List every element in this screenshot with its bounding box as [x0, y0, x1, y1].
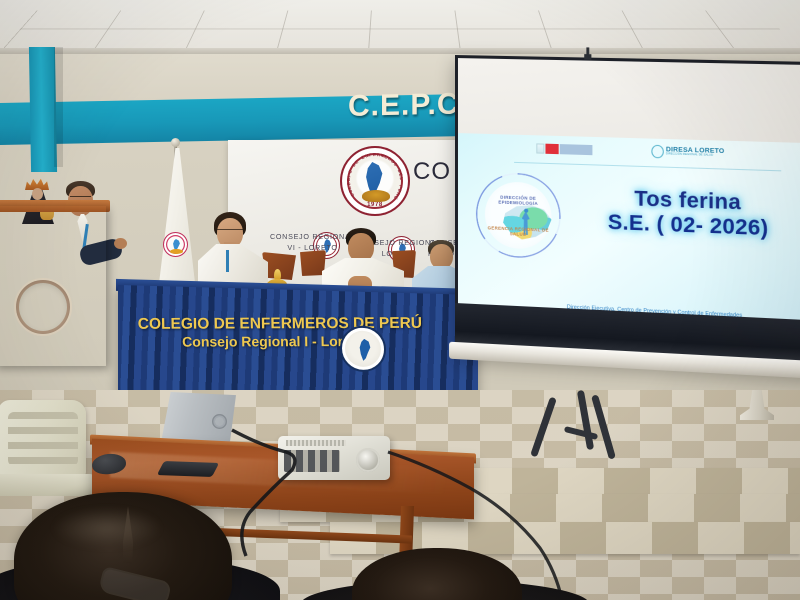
panelist-1-lanyard: [226, 250, 229, 272]
tripod-leg-3: [591, 394, 616, 459]
audience-1-hair-highlight: [52, 508, 162, 548]
chair-backrest: [0, 400, 86, 476]
epidemiologia-emblem-icon: DIRECCIÓN DE EPIDEMIOLOGÍA GERENCIA REGI…: [476, 172, 561, 260]
peru-shield-icon: [536, 143, 544, 153]
projection-screen: DIRESA LORETO DIRECCIÓN REGIONAL DE SALU…: [455, 55, 800, 375]
wall-column-shadow: [54, 47, 63, 167]
diresa-mark-icon: [651, 145, 664, 159]
podium-seal-icon: [14, 278, 72, 336]
emblem-bottom-text: GERENCIA REGIONAL DE SALUD: [485, 225, 552, 238]
minsa-logo-icon: [536, 143, 592, 155]
tripod-brace: [564, 426, 598, 440]
slide-title-block: Tos ferina S.E. ( 02- 2026): [567, 185, 800, 244]
presentation-slide: DIRESA LORETO DIRECCIÓN REGIONAL DE SALU…: [458, 133, 800, 329]
video-projector: [278, 436, 390, 480]
projector-lens-icon: [356, 448, 380, 472]
table-skirt-seal-icon: [340, 325, 386, 372]
chair-slats: [8, 412, 78, 466]
emblem-top-text: DIRECCIÓN DE EPIDEMIOLOGÍA: [485, 194, 552, 206]
diresa-logo-icon: DIRESA LORETO DIRECCIÓN REGIONAL DE SALU…: [651, 145, 724, 161]
photo-scene: C.E.P.C.R.V 1978 COLEGIO DE ENFERMEROS D…: [0, 0, 800, 600]
flag-finial: [171, 138, 180, 147]
minsa-text-block: [560, 144, 593, 155]
speaker-hand: [114, 238, 127, 249]
mobile-phone: [157, 461, 219, 477]
panelist-3-head: [430, 244, 453, 269]
ceiling: [0, 0, 800, 52]
panelist-1-glasses-icon: [217, 229, 243, 235]
slide-logo-row: DIRESA LORETO DIRECCIÓN REGIONAL DE SALU…: [458, 139, 800, 166]
statue-face: [32, 188, 43, 200]
projector-vent: [286, 440, 346, 446]
hp-logo-icon: [212, 414, 227, 429]
banner-partial-word: CO: [413, 158, 451, 186]
flag-emblem-icon: [163, 232, 188, 257]
minsa-red-block: [545, 144, 558, 155]
projector-ports: [284, 450, 340, 472]
colegio-seal-icon: 1978 COLEGIO DE ENFERMEROS DEL PERÚ: [340, 146, 410, 216]
chair-seat: [0, 474, 94, 496]
seal-ring-text: COLEGIO DE ENFERMEROS DEL PERÚ: [342, 148, 408, 214]
wall-teal-column: [29, 47, 57, 172]
panelist-2-head: [348, 233, 374, 262]
screen-tripod-stand: [540, 390, 650, 466]
ceiling-tile-grid: [0, 10, 800, 52]
